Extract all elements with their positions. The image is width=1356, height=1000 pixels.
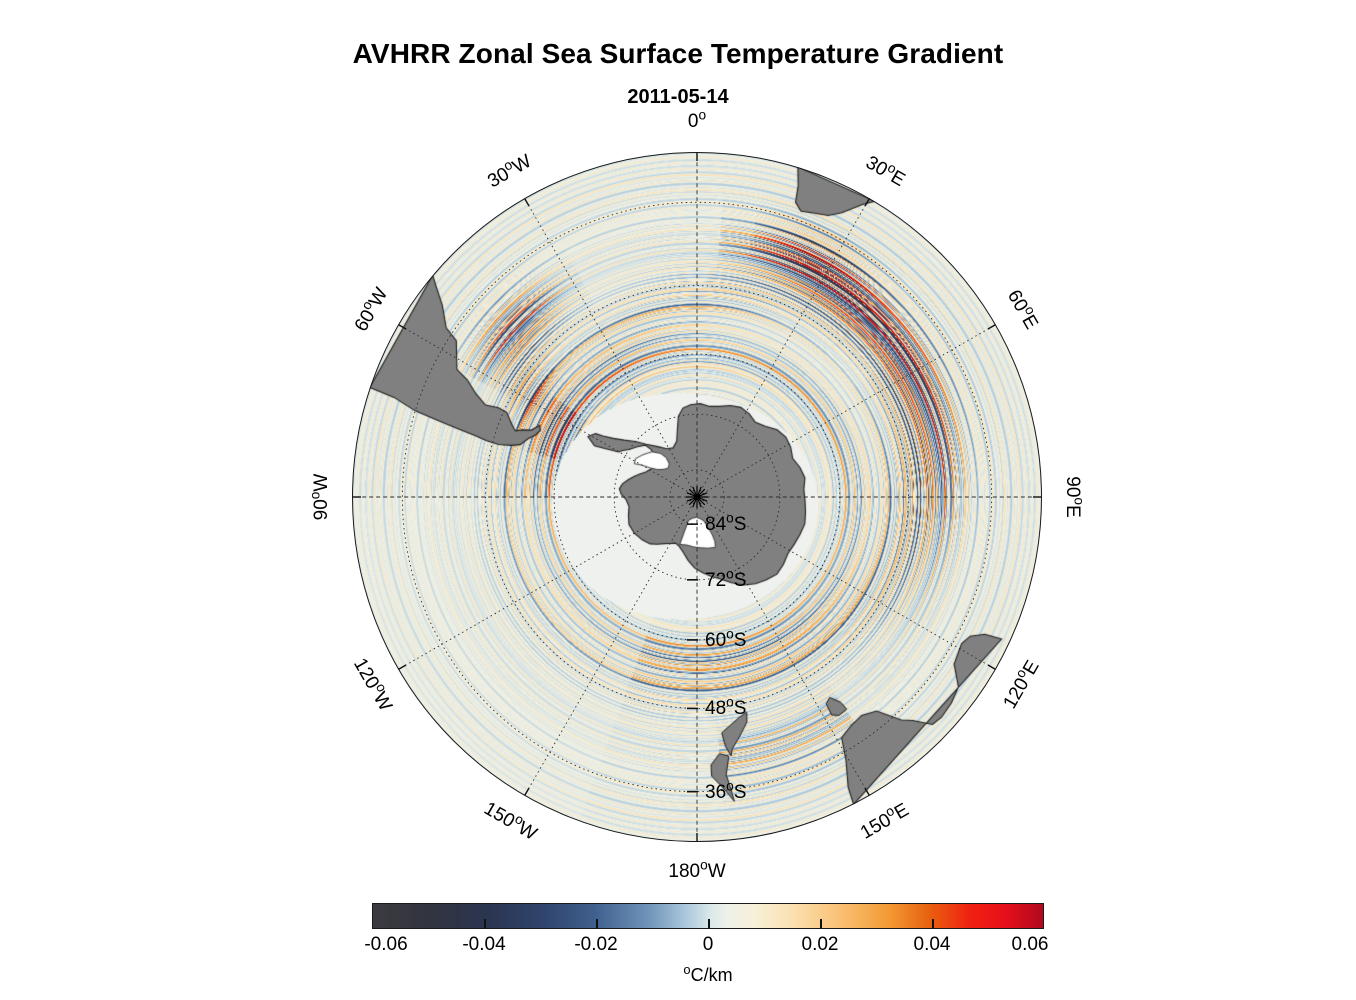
lon-label-0deg: 0o xyxy=(688,111,706,133)
colorbar-tick-label-2: -0.02 xyxy=(574,934,617,956)
lat-label-84S: 84oS xyxy=(705,514,746,536)
colorbar-tick-labels: -0.06-0.04-0.0200.020.040.06 xyxy=(372,934,1044,960)
polar-map xyxy=(352,152,1042,842)
map-disc xyxy=(352,152,1042,842)
colorbar-ticks xyxy=(372,903,1044,929)
colorbar-unit-label: oC/km xyxy=(372,965,1044,986)
lat-label-36S: 36oS xyxy=(705,782,746,804)
colorbar-tick-label-5: 0.04 xyxy=(914,934,951,956)
sst-gradient-field xyxy=(352,152,1042,842)
colorbar-tick xyxy=(484,919,486,929)
lon-label-180W: 180oW xyxy=(668,861,725,883)
colorbar-tick-label-3: 0 xyxy=(703,934,714,956)
page-title: AVHRR Zonal Sea Surface Temperature Grad… xyxy=(0,38,1356,70)
colorbar-tick xyxy=(932,919,934,929)
colorbar-tick-label-1: -0.04 xyxy=(462,934,505,956)
colorbar-tick xyxy=(708,919,710,929)
colorbar: -0.06-0.04-0.0200.020.040.06 oC/km xyxy=(372,903,1044,960)
lat-label-60S: 60oS xyxy=(705,630,746,652)
colorbar-tick-label-4: 0.02 xyxy=(802,934,839,956)
colorbar-tick-label-6: 0.06 xyxy=(1012,934,1049,956)
lat-label-48S: 48oS xyxy=(705,698,746,720)
figure-canvas: AVHRR Zonal Sea Surface Temperature Grad… xyxy=(0,0,1356,1000)
colorbar-gradient xyxy=(372,903,1044,929)
lat-label-72S: 72oS xyxy=(705,570,746,592)
lon-label-90E: 90oE xyxy=(1061,476,1083,517)
colorbar-tick-label-0: -0.06 xyxy=(364,934,407,956)
page-subtitle: 2011-05-14 xyxy=(0,86,1356,109)
colorbar-tick xyxy=(596,919,598,929)
lon-label-90W: 90oW xyxy=(311,474,333,521)
colorbar-tick xyxy=(820,919,822,929)
